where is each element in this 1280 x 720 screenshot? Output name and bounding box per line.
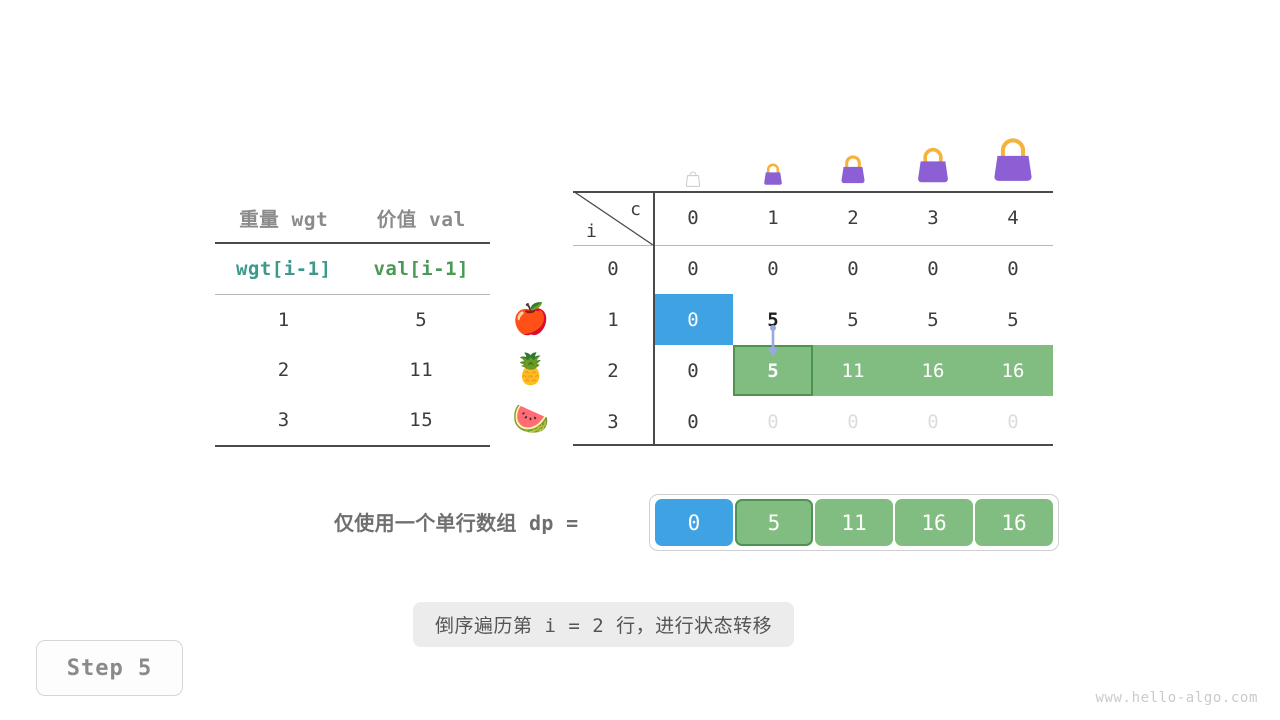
dp-row-header-2: 2 bbox=[573, 345, 653, 396]
knapsack-capacity-icons bbox=[653, 118, 1053, 190]
dp-table-corner-label-c: c bbox=[630, 199, 641, 220]
dp-single-row-array: 0 5 11 16 16 bbox=[649, 494, 1059, 551]
diagonal-line-icon bbox=[573, 191, 653, 245]
dp-array-cell-2: 11 bbox=[815, 499, 893, 546]
dp-cell-1-0: 0 bbox=[653, 294, 733, 345]
dp-col-header-3: 3 bbox=[893, 191, 973, 245]
bag-icon-capacity-2 bbox=[813, 148, 893, 190]
dp-col-header-0: 0 bbox=[653, 191, 733, 245]
item-val-3: 15 bbox=[353, 409, 491, 431]
dp-cell-2-2: 11 bbox=[813, 345, 893, 396]
dp-table-corner-label-i: i bbox=[586, 221, 597, 242]
bag-icon-capacity-4 bbox=[973, 128, 1053, 190]
item-val-1: 5 bbox=[353, 309, 491, 331]
item-wgt-1: 1 bbox=[215, 309, 353, 331]
item-wgt-3: 3 bbox=[215, 409, 353, 431]
step-caption: 倒序遍历第 i = 2 行，进行状态转移 bbox=[413, 602, 794, 647]
apple-icon: 🍎 bbox=[500, 295, 562, 345]
item-wgt-2: 2 bbox=[215, 359, 353, 381]
dp-cell-0-2: 0 bbox=[813, 243, 893, 294]
dp-cell-3-3: 0 bbox=[893, 396, 973, 447]
dp-array-cell-0: 0 bbox=[655, 499, 733, 546]
dp-cell-0-1: 0 bbox=[733, 243, 813, 294]
bag-icon-capacity-3 bbox=[893, 138, 973, 190]
dp-col-header-1: 1 bbox=[733, 191, 813, 245]
dp-matrix-table: c i 0 1 2 3 4 0 1 2 3 0 0 0 0 0 0 5 5 5 … bbox=[573, 191, 1053, 444]
item-table-header-val: 价值 val bbox=[353, 203, 491, 232]
bag-icon-capacity-0 bbox=[653, 166, 733, 190]
dp-col-header-2: 2 bbox=[813, 191, 893, 245]
slide-canvas: 重量 wgt 价值 val wgt[i-1] val[i-1] 1 5 2 11… bbox=[0, 0, 1280, 720]
item-table-header-row: 重量 wgt 价值 val bbox=[215, 192, 490, 242]
item-icon-column: 🍎 🍍 🍉 bbox=[500, 295, 562, 445]
dp-cell-1-3: 5 bbox=[893, 294, 973, 345]
dp-col-header-4: 4 bbox=[973, 191, 1053, 245]
item-table-subheader-val: val[i-1] bbox=[353, 258, 491, 280]
dp-table-corner-cell: c i bbox=[573, 191, 653, 245]
item-val-2: 11 bbox=[353, 359, 491, 381]
step-badge: Step 5 bbox=[36, 640, 183, 696]
dp-cell-3-0: 0 bbox=[653, 396, 733, 447]
table-row: 2 11 bbox=[215, 345, 490, 395]
item-table-subheader-row: wgt[i-1] val[i-1] bbox=[215, 244, 490, 294]
dp-cell-0-4: 0 bbox=[973, 243, 1053, 294]
table-row: 1 5 bbox=[215, 295, 490, 345]
state-transition-arrow-icon bbox=[763, 324, 783, 360]
dp-cell-2-4: 16 bbox=[973, 345, 1053, 396]
dp-cell-1-2: 5 bbox=[813, 294, 893, 345]
dp-cell-3-2: 0 bbox=[813, 396, 893, 447]
dp-cell-2-0: 0 bbox=[653, 345, 733, 396]
dp-array-cell-4: 16 bbox=[975, 499, 1053, 546]
watermelon-icon: 🍉 bbox=[500, 395, 562, 445]
item-table-rule-bottom bbox=[215, 445, 490, 447]
dp-row-header-0: 0 bbox=[573, 243, 653, 294]
dp-row-header-3: 3 bbox=[573, 396, 653, 447]
table-row: 3 15 bbox=[215, 395, 490, 445]
dp-row-header-1: 1 bbox=[573, 294, 653, 345]
pineapple-icon: 🍍 bbox=[500, 345, 562, 395]
dp-cell-1-4: 5 bbox=[973, 294, 1053, 345]
dp-cell-3-1: 0 bbox=[733, 396, 813, 447]
dp-cell-0-3: 0 bbox=[893, 243, 973, 294]
dp-array-label: 仅使用一个单行数组 dp = bbox=[334, 507, 578, 536]
dp-array-cell-3: 16 bbox=[895, 499, 973, 546]
dp-cell-0-0: 0 bbox=[653, 243, 733, 294]
dp-array-cell-1: 5 bbox=[735, 499, 813, 546]
watermark: www.hello-algo.com bbox=[1095, 690, 1258, 706]
dp-cell-3-4: 0 bbox=[973, 396, 1053, 447]
item-weight-value-table: 重量 wgt 价值 val wgt[i-1] val[i-1] 1 5 2 11… bbox=[215, 192, 490, 447]
item-table-subheader-wgt: wgt[i-1] bbox=[215, 258, 353, 280]
item-table-header-wgt: 重量 wgt bbox=[215, 203, 353, 232]
dp-cell-2-3: 16 bbox=[893, 345, 973, 396]
bag-icon-capacity-1 bbox=[733, 158, 813, 190]
